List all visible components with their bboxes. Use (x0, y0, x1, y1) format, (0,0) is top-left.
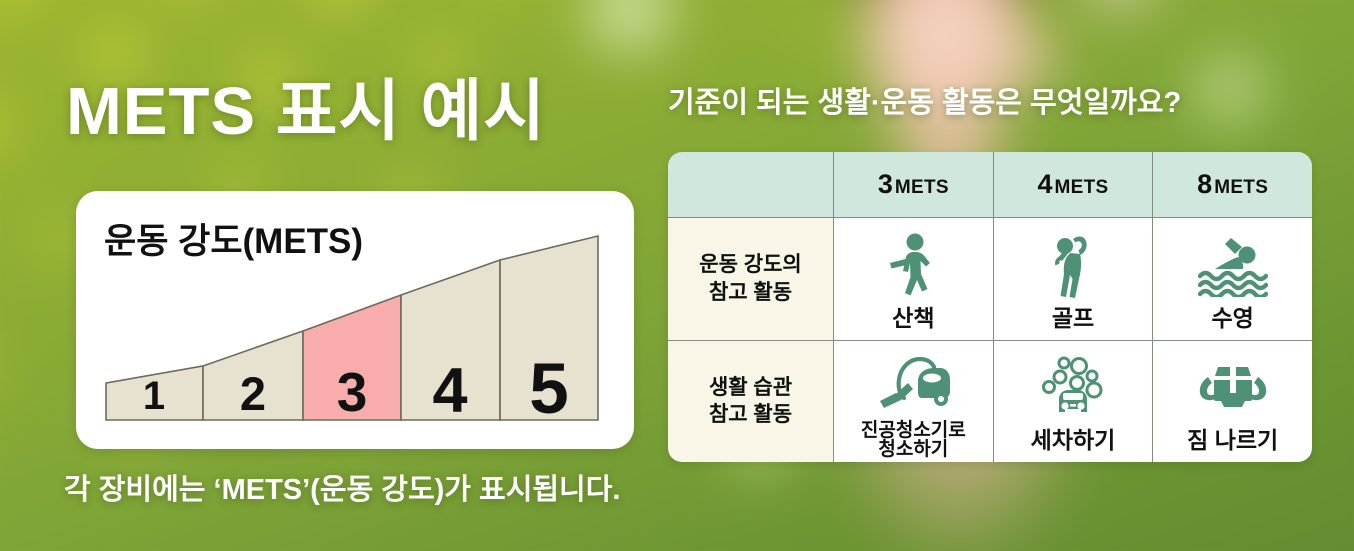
table-corner-cell (668, 152, 833, 217)
activity-label: 수영 (1212, 306, 1254, 330)
activity-label: 진공청소기로 청소하기 (861, 421, 966, 459)
row-header-exercise: 운동 강도의 참고 활동 (668, 218, 833, 340)
table-header-4mets: 4METS (994, 152, 1153, 217)
page-subtitle: 기준이 되는 생활·운동 활동은 무엇일까요? (668, 79, 1181, 121)
header-value: 3 (878, 169, 893, 199)
golf-icon (1047, 228, 1099, 304)
table-cell-luggage: 짐 나르기 (1153, 341, 1312, 463)
table-cell-vacuum: 진공청소기로 청소하기 (834, 341, 993, 463)
header-unit: METS (1055, 177, 1109, 198)
table-cell-golf: 골프 (994, 218, 1153, 340)
activity-reference-table: 3METS 4METS 8METS 운동 강도의 참고 활동 산책 (668, 152, 1312, 462)
stair-label-2: 2 (240, 367, 266, 420)
activity-label: 짐 나르기 (1187, 428, 1278, 452)
stair-label-4: 4 (432, 356, 467, 426)
card-caption: 각 장비에는 ‘METS’(운동 강도)가 표시됩니다. (64, 466, 620, 508)
activity-label: 골프 (1052, 306, 1094, 330)
table-cell-walking: 산책 (834, 218, 993, 340)
carrying-luggage-icon (1194, 350, 1272, 426)
table-header-3mets: 3METS (834, 152, 993, 217)
stair-label-5: 5 (529, 350, 569, 429)
header-unit: METS (895, 177, 949, 198)
header-value: 8 (1197, 169, 1212, 199)
mets-scale-card: 운동 강도(METS) 1 2 3 4 5 (76, 191, 634, 449)
car-wash-icon (1037, 350, 1109, 426)
page-title: METS 표시 예시 (66, 57, 546, 154)
activity-label: 세차하기 (1031, 428, 1116, 452)
header-unit: METS (1214, 177, 1268, 198)
mets-staircase-chart: 1 2 3 4 5 (104, 229, 604, 434)
row-header-lifestyle: 생활 습관 참고 활동 (668, 341, 833, 463)
table-cell-swimming: 수영 (1153, 218, 1312, 340)
table-header-8mets: 8METS (1153, 152, 1312, 217)
stair-label-1: 1 (143, 374, 165, 418)
vacuum-cleaner-icon (874, 343, 952, 419)
infographic-canvas: METS 표시 예시 기준이 되는 생활·운동 활동은 무엇일까요? 운동 강도… (0, 0, 1354, 551)
walking-icon (885, 228, 941, 304)
swimming-icon (1198, 228, 1268, 304)
stair-label-3: 3 (337, 361, 368, 423)
header-value: 4 (1037, 169, 1052, 199)
table-cell-carwash: 세차하기 (994, 341, 1153, 463)
activity-label: 산책 (892, 306, 934, 330)
